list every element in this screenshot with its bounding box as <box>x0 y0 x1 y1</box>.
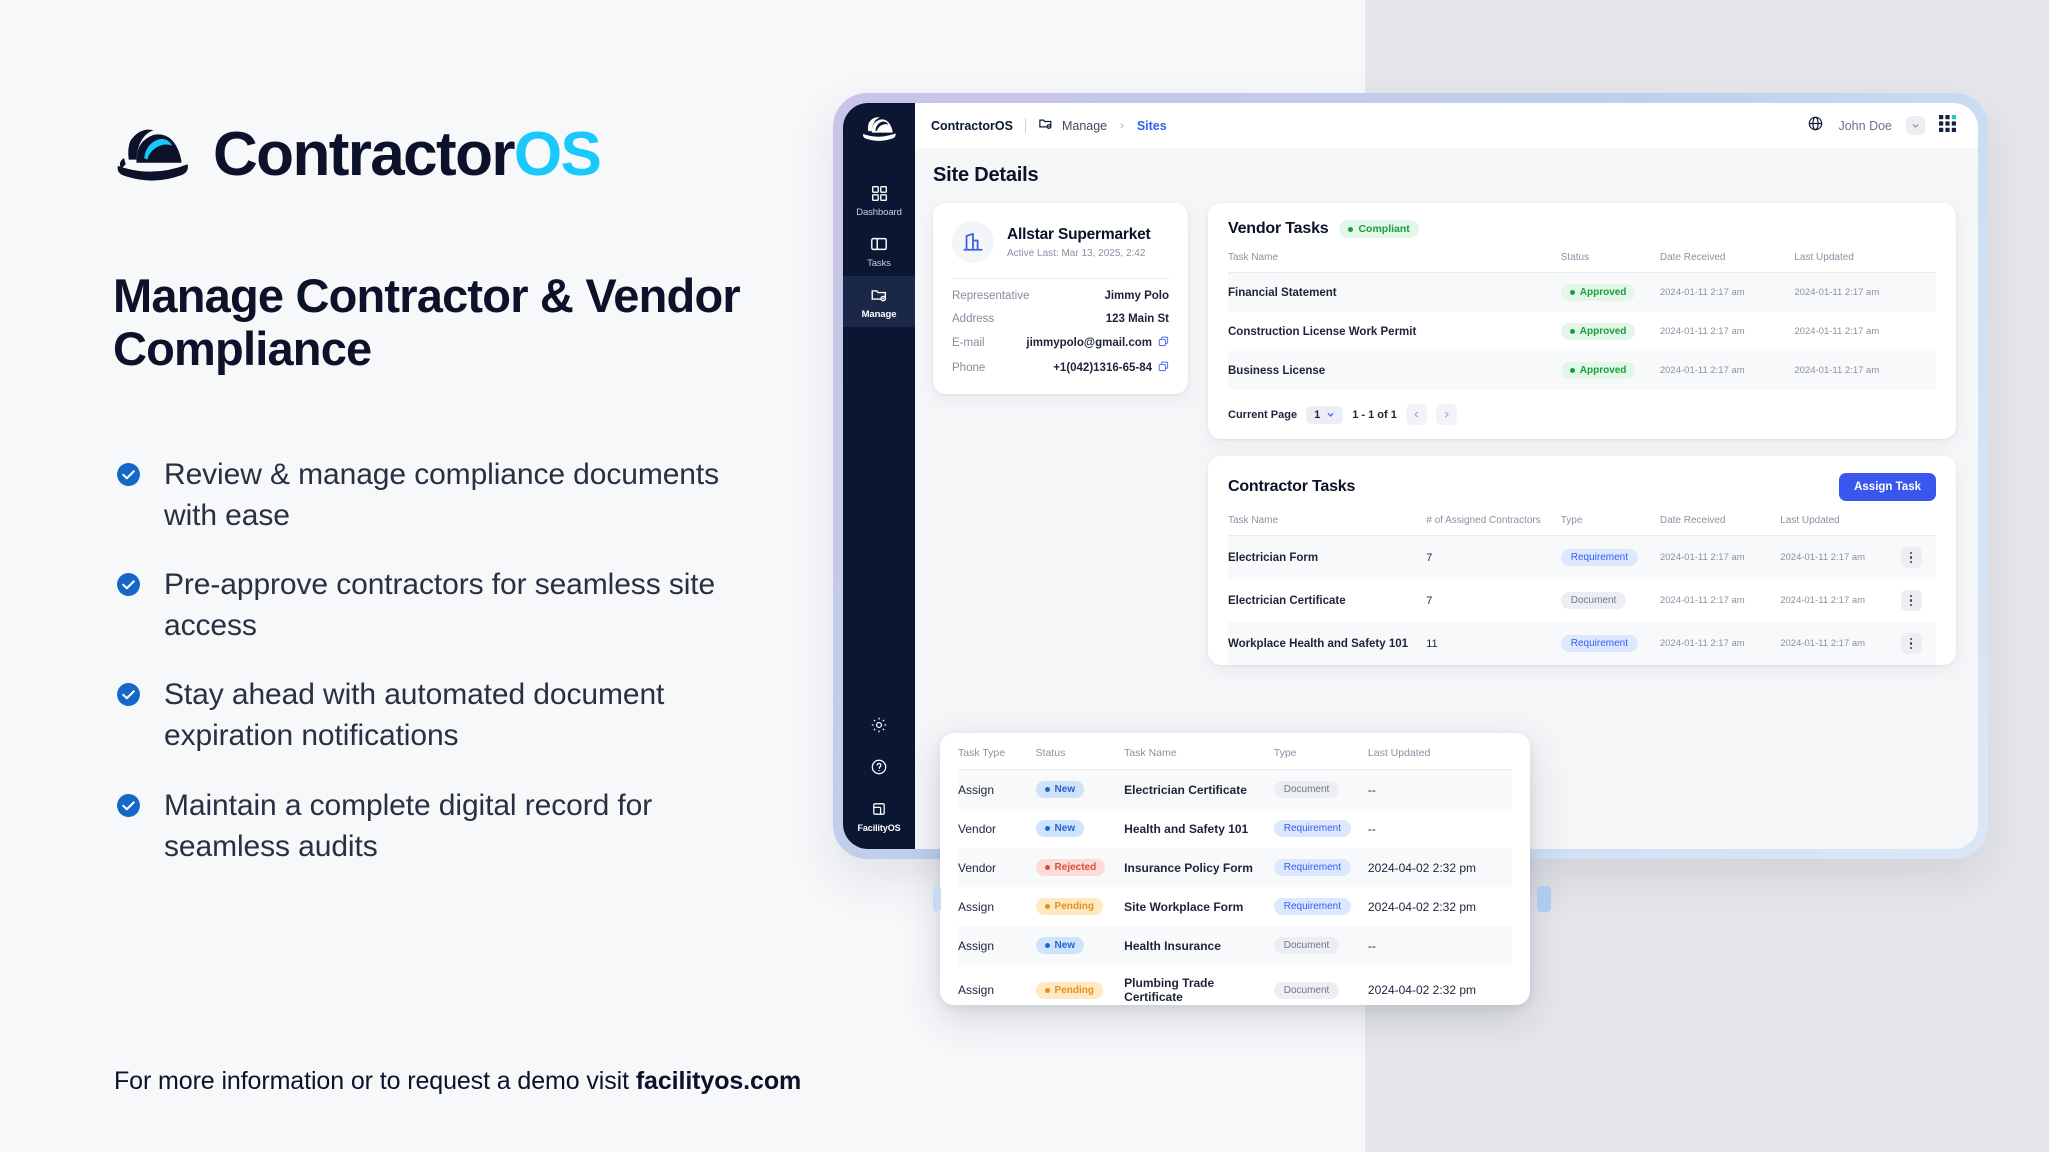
status-badge: Pending <box>1036 898 1103 915</box>
status-label: Approved <box>1580 326 1627 337</box>
column-header[interactable]: Type <box>1561 515 1660 536</box>
cell-status: Approved <box>1561 351 1660 390</box>
table-row[interactable]: Business License Approved 2024-01-11 2:1… <box>1228 351 1936 390</box>
type-badge: Document <box>1274 982 1340 999</box>
cell-last-updated: 2024-01-11 2:17 am <box>1780 579 1900 622</box>
contractor-tasks-card: Contractor Tasks Assign Task Task Name #… <box>1208 456 1956 665</box>
brand-name-accent: OS <box>514 120 600 189</box>
vendor-tasks-header: Vendor Tasks Compliant <box>1228 220 1936 238</box>
field-value-group: jimmypolo@gmail.com <box>1026 336 1169 350</box>
contractor-tasks-table: Task Name # of Assigned Contractors Type… <box>1228 515 1936 665</box>
pagination-range: 1 - 1 of 1 <box>1352 409 1397 421</box>
status-badge-label: Compliant <box>1358 223 1409 235</box>
cell-task-name: Plumbing Trade Certificate <box>1124 965 1274 1005</box>
status-badge: Approved <box>1561 323 1636 340</box>
breadcrumb-sites[interactable]: Sites <box>1137 119 1167 133</box>
status-dot-icon <box>1570 290 1575 295</box>
sidebar-brand-label: FacilityOS <box>857 823 900 833</box>
list-item-label: Review & manage compliance documents wit… <box>164 454 756 536</box>
cell-task-name: Construction License Work Permit <box>1228 312 1561 351</box>
breadcrumb-manage[interactable]: Manage <box>1062 119 1107 133</box>
card-title: Vendor Tasks <box>1228 220 1328 238</box>
cell-actions <box>1901 536 1936 580</box>
cell-task-type: Assign <box>958 965 1036 1005</box>
table-row[interactable]: Electrician Form 7 Requirement 2024-01-1… <box>1228 536 1936 580</box>
type-badge: Document <box>1274 937 1340 954</box>
building-icon <box>952 221 994 263</box>
overlay-tasks-table: Task Type Status Task Name Type Last Upd… <box>958 747 1512 1005</box>
field-label: Address <box>952 313 994 325</box>
column-header[interactable]: Status <box>1561 252 1660 273</box>
columns-icon <box>843 233 915 255</box>
site-card-titles: Allstar Supermarket Active Last: Mar 13,… <box>1007 226 1151 259</box>
site-field-address: Address 123 Main St <box>952 302 1169 325</box>
kebab-menu-icon[interactable] <box>1901 633 1922 654</box>
cell-last-updated: 2024-01-11 2:17 am <box>1794 312 1936 351</box>
cell-type: Document <box>1274 965 1368 1005</box>
sidebar-item-manage[interactable]: Manage <box>843 276 915 327</box>
chevron-left-icon <box>1412 410 1421 419</box>
type-badge: Document <box>1561 592 1627 609</box>
chevron-down-icon <box>1326 410 1335 419</box>
cell-status: Rejected <box>1036 848 1125 887</box>
cell-task-name: Financial Statement <box>1228 273 1561 313</box>
hard-hat-icon <box>861 114 897 144</box>
status-label: New <box>1055 940 1076 951</box>
type-badge: Requirement <box>1274 820 1351 837</box>
column-header[interactable]: Last Updated <box>1794 252 1936 273</box>
table-row[interactable]: Vendor Rejected Insurance Policy Form Re… <box>958 848 1512 887</box>
status-dot-icon <box>1045 943 1050 948</box>
field-value-group: +1(042)1316-65-84 <box>1053 361 1169 375</box>
list-item: Review & manage compliance documents wit… <box>116 454 756 536</box>
app-grid-icon[interactable] <box>1939 115 1956 137</box>
field-label: E-mail <box>952 337 985 349</box>
cell-task-name: Insurance Policy Form <box>1124 848 1274 887</box>
column-header[interactable]: Date Received <box>1660 252 1795 273</box>
globe-icon[interactable] <box>1807 115 1824 137</box>
sidebar-item-label: Dashboard <box>843 207 915 218</box>
cell-task-name: Business License <box>1228 351 1561 390</box>
brand-wordmark: ContractorOS <box>213 124 600 186</box>
status-label: Pending <box>1055 985 1094 996</box>
cell-task-name: Electrician Certificate <box>1228 579 1426 622</box>
cell-status: New <box>1036 926 1125 965</box>
table-row[interactable]: Assign Pending Site Workplace Form Requi… <box>958 887 1512 926</box>
site-field-email: E-mail jimmypolo@gmail.com <box>952 325 1169 350</box>
pagination-label: Current Page <box>1228 409 1297 421</box>
column-header[interactable]: Date Received <box>1660 515 1780 536</box>
vendor-tasks-card: Vendor Tasks Compliant Task Name <box>1208 203 1956 439</box>
tasks-column: Vendor Tasks Compliant Task Name <box>1208 203 1956 665</box>
prev-page-button[interactable] <box>1406 404 1427 425</box>
brand-name-primary: Contractor <box>213 120 514 189</box>
type-badge: Requirement <box>1274 898 1351 915</box>
table-row[interactable]: Financial Statement Approved 2024-01-11 … <box>1228 273 1936 313</box>
status-badge: Pending <box>1036 982 1103 999</box>
column-header[interactable]: Task Type <box>958 747 1036 770</box>
cell-type: Requirement <box>1274 887 1368 926</box>
status-badge: Rejected <box>1036 859 1106 876</box>
cell-task-name: Health Insurance <box>1124 926 1274 965</box>
kebab-menu-icon[interactable] <box>1901 590 1922 611</box>
cell-task-name: Electrician Form <box>1228 536 1426 580</box>
table-row[interactable]: Assign Pending Plumbing Trade Certificat… <box>958 965 1512 1005</box>
table-header-row: Task Type Status Task Name Type Last Upd… <box>958 747 1512 770</box>
chevron-down-icon[interactable] <box>1906 116 1925 135</box>
cell-type: Requirement <box>1274 848 1368 887</box>
cell-type: Document <box>1274 770 1368 810</box>
table-row[interactable]: Construction License Work Permit Approve… <box>1228 312 1936 351</box>
cell-date-received: 2024-01-11 2:17 am <box>1660 312 1795 351</box>
cell-actions <box>1901 579 1936 622</box>
topbar-right-group: John Doe <box>1807 115 1956 137</box>
list-item: Pre-approve contractors for seamless sit… <box>116 564 756 646</box>
cell-last-updated: -- <box>1368 770 1512 810</box>
table-header-row: Task Name # of Assigned Contractors Type… <box>1228 515 1936 536</box>
status-label: New <box>1055 784 1076 795</box>
type-badge: Requirement <box>1274 859 1351 876</box>
column-header[interactable]: Type <box>1274 747 1368 770</box>
field-value: jimmypolo@gmail.com <box>1026 337 1152 349</box>
status-dot-icon <box>1045 787 1050 792</box>
cell-task-type: Assign <box>958 926 1036 965</box>
cell-last-updated: 2024-01-11 2:17 am <box>1780 622 1900 665</box>
cell-task-name: Site Workplace Form <box>1124 887 1274 926</box>
site-name: Allstar Supermarket <box>1007 226 1151 244</box>
cell-task-type: Vendor <box>958 848 1036 887</box>
cell-date-received: 2024-01-11 2:17 am <box>1660 351 1795 390</box>
folder-gear-icon <box>843 284 915 306</box>
card-title: Contractor Tasks <box>1228 478 1355 496</box>
cell-last-updated: -- <box>1368 926 1512 965</box>
site-field-phone: Phone +1(042)1316-65-84 <box>952 350 1169 375</box>
column-header[interactable]: Task Name <box>1124 747 1274 770</box>
check-circle-icon <box>116 682 141 707</box>
footer-cta-text: For more information or to request a dem… <box>114 1067 636 1095</box>
sidebar-item-dashboard[interactable]: Dashboard <box>843 174 915 225</box>
status-label: Approved <box>1580 365 1627 376</box>
column-header[interactable]: Task Name <box>1228 515 1426 536</box>
status-dot-icon <box>1045 988 1050 993</box>
table-header-row: Task Name Status Date Received Last Upda… <box>1228 252 1936 273</box>
field-value: +1(042)1316-65-84 <box>1053 362 1152 374</box>
cell-last-updated: 2024-01-11 2:17 am <box>1794 351 1936 390</box>
breadcrumb-root[interactable]: ContractorOS <box>931 119 1013 133</box>
cell-status: New <box>1036 770 1125 810</box>
cell-last-updated: 2024-01-11 2:17 am <box>1780 536 1900 580</box>
table-row[interactable]: Electrician Certificate 7 Document 2024-… <box>1228 579 1936 622</box>
floating-tasks-overlay: Task Type Status Task Name Type Last Upd… <box>940 733 1530 1005</box>
table-row[interactable]: Assign New Electrician Certificate Docum… <box>958 770 1512 810</box>
page-headline: Manage Contractor & Vendor Compliance <box>113 270 813 375</box>
cell-status: Approved <box>1561 312 1660 351</box>
site-details-card: Allstar Supermarket Active Last: Mar 13,… <box>933 203 1188 394</box>
site-card-header: Allstar Supermarket Active Last: Mar 13,… <box>952 221 1169 278</box>
status-badge: New <box>1036 820 1085 837</box>
sidebar-brand-facilityos[interactable]: FacilityOS <box>857 798 900 833</box>
status-dot-icon <box>1045 865 1050 870</box>
cell-actions <box>1901 622 1936 665</box>
folder-gear-icon <box>1038 116 1053 136</box>
list-item: Maintain a complete digital record for s… <box>116 785 756 867</box>
status-badge: New <box>1036 937 1085 954</box>
status-dot-icon <box>1045 826 1050 831</box>
status-label: Pending <box>1055 901 1094 912</box>
footer-cta: For more information or to request a dem… <box>114 1067 801 1096</box>
type-badge: Requirement <box>1561 635 1638 652</box>
breadcrumb-divider <box>1025 118 1026 133</box>
field-label: Phone <box>952 362 985 374</box>
cell-task-name: Health and Safety 101 <box>1124 809 1274 848</box>
cell-type: Document <box>1561 579 1660 622</box>
app-topbar: ContractorOS Manage › Sites <box>915 103 1978 148</box>
list-item-label: Stay ahead with automated document expir… <box>164 674 756 756</box>
status-badge: Compliant <box>1339 220 1418 238</box>
cell-last-updated: 2024-04-02 2:32 pm <box>1368 848 1512 887</box>
list-item-label: Pre-approve contractors for seamless sit… <box>164 564 756 646</box>
promo-page: ContractorOS Manage Contractor & Vendor … <box>0 0 2049 1152</box>
status-label: Rejected <box>1055 862 1097 873</box>
cell-status: Pending <box>1036 887 1125 926</box>
status-label: New <box>1055 823 1076 834</box>
vendor-tasks-table: Task Name Status Date Received Last Upda… <box>1228 252 1936 390</box>
next-page-button[interactable] <box>1436 404 1457 425</box>
cell-last-updated: 2024-04-02 2:32 pm <box>1368 965 1512 1005</box>
column-header[interactable]: Status <box>1036 747 1125 770</box>
contractor-tasks-header: Contractor Tasks Assign Task <box>1228 473 1936 501</box>
cell-task-name: Electrician Certificate <box>1124 770 1274 810</box>
cell-date-received: 2024-01-11 2:17 am <box>1660 622 1780 665</box>
scroll-indicator-right[interactable] <box>1537 886 1551 912</box>
sidebar-item-label: Tasks <box>843 258 915 269</box>
gear-icon[interactable] <box>870 714 888 736</box>
cell-task-type: Assign <box>958 770 1036 810</box>
check-circle-icon <box>116 793 141 818</box>
status-badge: Approved <box>1561 284 1636 301</box>
facility-icon <box>857 798 900 820</box>
brand-logo: ContractorOS <box>113 124 600 186</box>
check-circle-icon <box>116 462 141 487</box>
type-badge: Requirement <box>1561 549 1638 566</box>
app-sidebar: Dashboard Tasks <box>843 103 915 849</box>
status-dot-icon <box>1348 227 1353 232</box>
chevron-right-icon: › <box>1120 120 1124 132</box>
assign-task-button[interactable]: Assign Task <box>1839 473 1936 501</box>
status-dot-icon <box>1570 368 1575 373</box>
sidebar-item-tasks[interactable]: Tasks <box>843 225 915 276</box>
site-active-last: Active Last: Mar 13, 2025, 2:42 <box>1007 248 1151 259</box>
grid-icon <box>843 182 915 204</box>
pagination: Current Page 1 1 - 1 of 1 <box>1228 404 1936 425</box>
page-select-value: 1 <box>1314 409 1320 421</box>
status-label: Approved <box>1580 287 1627 298</box>
hard-hat-icon <box>113 124 191 186</box>
cell-status: Pending <box>1036 965 1125 1005</box>
kebab-menu-icon[interactable] <box>1901 547 1922 568</box>
help-circle-icon[interactable] <box>870 756 888 778</box>
cell-last-updated: 2024-01-11 2:17 am <box>1794 273 1936 313</box>
check-circle-icon <box>116 572 141 597</box>
status-dot-icon <box>1570 329 1575 334</box>
cell-task-type: Vendor <box>958 809 1036 848</box>
sidebar-item-label: Manage <box>843 309 915 320</box>
cell-assigned-count: 11 <box>1426 622 1561 665</box>
field-value: Jimmy Polo <box>1104 290 1169 302</box>
footer-cta-link[interactable]: facilityos.com <box>636 1067 801 1095</box>
feature-bullet-list: Review & manage compliance documents wit… <box>116 454 756 867</box>
status-badge: New <box>1036 781 1085 798</box>
cell-type: Requirement <box>1274 809 1368 848</box>
copy-icon[interactable] <box>1158 361 1169 375</box>
cell-assigned-count: 7 <box>1426 579 1561 622</box>
cell-assigned-count: 7 <box>1426 536 1561 580</box>
cell-last-updated: -- <box>1368 809 1512 848</box>
status-dot-icon <box>1045 904 1050 909</box>
site-field-representative: Representative Jimmy Polo <box>952 279 1169 302</box>
cell-task-name: Workplace Health and Safety 101 <box>1228 622 1426 665</box>
page-select[interactable]: 1 <box>1306 406 1343 424</box>
cell-type: Requirement <box>1561 536 1660 580</box>
copy-icon[interactable] <box>1158 336 1169 350</box>
sidebar-bottom-group: FacilityOS <box>843 714 915 833</box>
list-item: Stay ahead with automated document expir… <box>116 674 756 756</box>
list-item-label: Maintain a complete digital record for s… <box>164 785 756 867</box>
field-label: Representative <box>952 290 1029 302</box>
cell-date-received: 2024-01-11 2:17 am <box>1660 579 1780 622</box>
cell-task-type: Assign <box>958 887 1036 926</box>
content-row: Allstar Supermarket Active Last: Mar 13,… <box>933 203 1956 665</box>
column-header[interactable]: Task Name <box>1228 252 1561 273</box>
cell-type: Document <box>1274 926 1368 965</box>
table-row[interactable]: Workplace Health and Safety 101 11 Requi… <box>1228 622 1936 665</box>
column-header[interactable]: Last Updated <box>1780 515 1900 536</box>
table-row[interactable]: Vendor New Health and Safety 101 Require… <box>958 809 1512 848</box>
user-name[interactable]: John Doe <box>1838 119 1892 133</box>
cell-last-updated: 2024-04-02 2:32 pm <box>1368 887 1512 926</box>
column-header-actions <box>1901 515 1936 536</box>
table-row[interactable]: Assign New Health Insurance Document -- <box>958 926 1512 965</box>
column-header[interactable]: Last Updated <box>1368 747 1512 770</box>
cell-status: New <box>1036 809 1125 848</box>
chevron-right-icon <box>1442 410 1451 419</box>
status-badge: Approved <box>1561 362 1636 379</box>
cell-date-received: 2024-01-11 2:17 am <box>1660 273 1795 313</box>
scroll-indicator-left[interactable] <box>933 886 941 912</box>
cell-date-received: 2024-01-11 2:17 am <box>1660 536 1780 580</box>
cell-type: Requirement <box>1561 622 1660 665</box>
type-badge: Document <box>1274 781 1340 798</box>
cell-status: Approved <box>1561 273 1660 313</box>
field-value: 123 Main St <box>1106 313 1169 325</box>
column-header[interactable]: # of Assigned Contractors <box>1426 515 1561 536</box>
page-title: Site Details <box>933 164 1956 187</box>
